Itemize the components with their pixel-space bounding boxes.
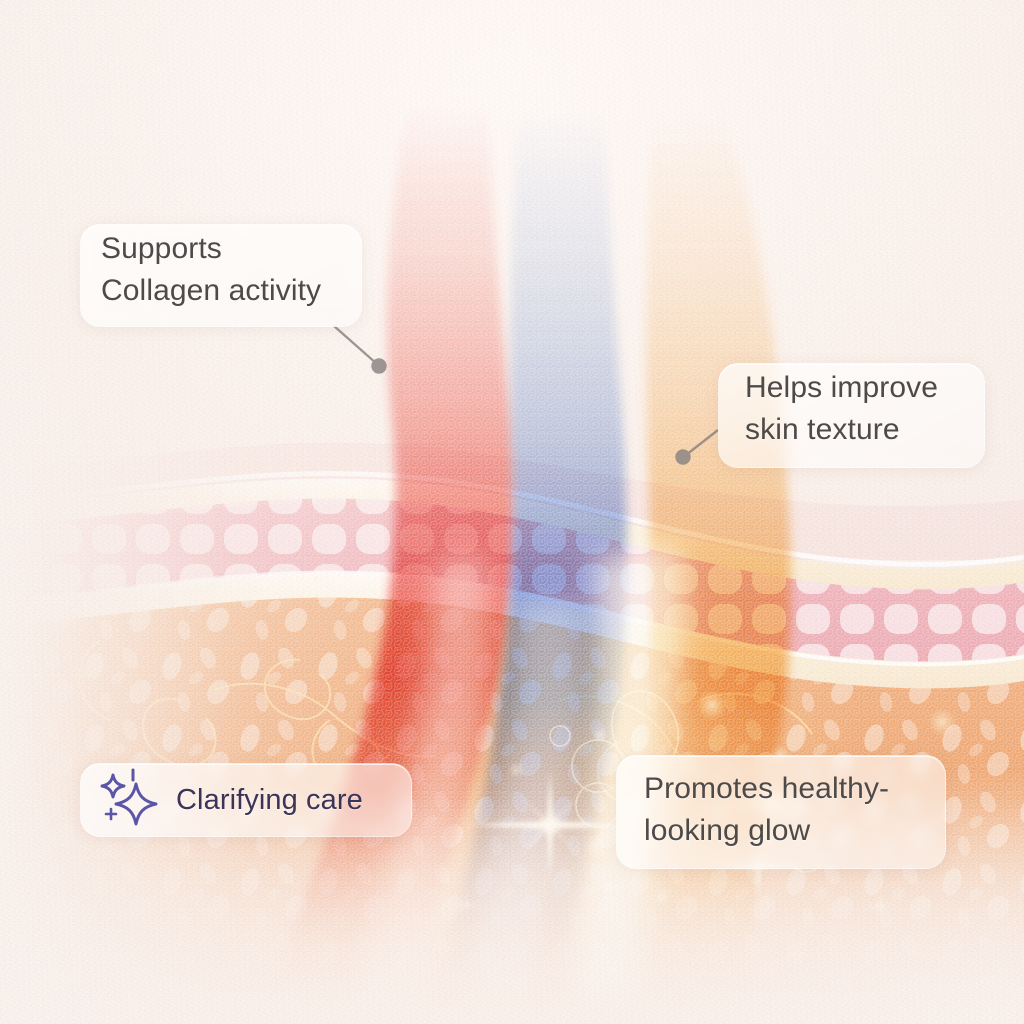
light-beam-blue — [438, 110, 627, 1000]
label-line-1: Helps improve — [745, 371, 938, 404]
skin-cross-section — [0, 0, 1024, 1024]
label-promotes-healthy-looking-glow-text: Promotes healthy-looking glow — [644, 768, 889, 852]
label-helps-improve-skin-texture-text: Helps improveskin texture — [745, 367, 938, 451]
label-line-2: looking glow — [644, 814, 810, 847]
leader-dot-collagen — [373, 360, 386, 373]
leader-line-texture — [686, 430, 718, 455]
paper-grain-texture-fine — [0, 0, 1024, 1024]
glow-sparkle-layer — [0, 0, 1024, 1024]
label-line-1: Promotes healthy- — [644, 772, 889, 805]
sparkle-icon — [100, 768, 164, 830]
left-fade-wash — [0, 0, 1024, 1024]
leader-line-collagen — [334, 326, 377, 364]
light-beams-group — [0, 0, 1024, 1024]
label-line-2: Collagen activity — [101, 274, 321, 307]
leader-dot-texture — [677, 451, 690, 464]
label-line-1: Supports — [101, 232, 222, 265]
label-supports-collagen-activity-text: SupportsCollagen activity — [101, 228, 321, 312]
bottom-fade-wash — [0, 0, 1024, 1024]
leader-lines-group — [0, 0, 1024, 1024]
label-line-2: skin texture — [745, 413, 900, 446]
label-clarifying-care-text: Clarifying care — [176, 779, 363, 821]
skincare-infographic: SupportsCollagen activity Helps improves… — [0, 0, 1024, 1024]
background-gradient — [0, 0, 1024, 1024]
skin-layer-epidermis — [0, 466, 1024, 700]
skin-surface-stratum-corneum — [0, 473, 1024, 593]
skin-layer-divider-band — [0, 570, 1024, 691]
paper-grain-texture — [0, 0, 1024, 1024]
